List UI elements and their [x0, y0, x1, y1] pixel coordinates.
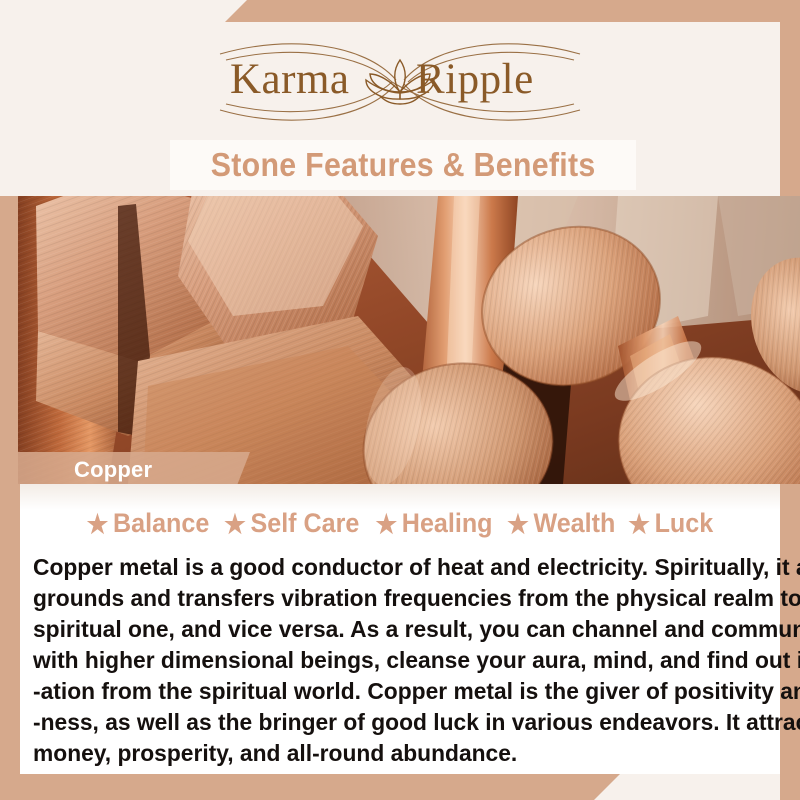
hero-caption: Copper: [18, 452, 250, 488]
frame-band-left: [0, 196, 20, 778]
benefit-item-wealth: ★ Wealth: [505, 508, 619, 539]
content-panel: ★ Balance ★ Self Care ★ Healing ★ Wealth…: [20, 484, 780, 774]
brand-logo: Karma Ripple: [0, 28, 800, 136]
description-line: Copper metal is a good conductor of heat…: [33, 552, 751, 583]
description-line: -ation from the spiritual world. Copper …: [33, 676, 751, 707]
benefit-item-balance: ★ Balance: [84, 508, 212, 539]
logo-word-karma: Karma: [230, 58, 350, 101]
benefit-label: Balance: [113, 508, 209, 539]
hero-image: [18, 196, 800, 484]
benefit-item-self-care: ★ Self Care: [223, 508, 364, 539]
hero-caption-label: Copper: [74, 457, 152, 483]
frame-band-bottom: [0, 774, 620, 800]
benefit-item-luck: ★ Luck: [626, 508, 717, 539]
logo-word-ripple: Ripple: [416, 58, 534, 101]
benefit-label: Self Care: [251, 508, 360, 539]
star-icon: ★: [225, 511, 247, 537]
star-icon: ★: [86, 511, 108, 537]
frame-band-top: [225, 0, 800, 22]
page-title: Stone Features & Benefits: [211, 146, 596, 184]
description-line: with higher dimensional beings, cleanse …: [33, 645, 751, 676]
benefit-label: Luck: [655, 508, 714, 539]
section-title-panel: Stone Features & Benefits: [170, 140, 636, 190]
content-top-fade: [20, 484, 780, 510]
description-text: Copper metal is a good conductor of heat…: [33, 552, 773, 769]
description-line: money, prosperity, and all-round abundan…: [33, 738, 751, 769]
star-icon: ★: [375, 511, 397, 537]
star-icon: ★: [507, 511, 529, 537]
star-icon: ★: [628, 511, 650, 537]
benefit-label: Healing: [402, 508, 493, 539]
benefit-item-healing: ★ Healing: [373, 508, 496, 539]
benefits-list: ★ Balance ★ Self Care ★ Healing ★ Wealth…: [20, 508, 780, 539]
description-line: spiritual one, and vice versa. As a resu…: [33, 614, 751, 645]
description-line: -ness, as well as the bringer of good lu…: [33, 707, 751, 738]
poster-root: Karma Ripple Stone Features & Benefits: [0, 0, 800, 800]
description-line: grounds and transfers vibration frequenc…: [33, 583, 751, 614]
benefit-label: Wealth: [533, 508, 615, 539]
copper-bars-illustration: [18, 196, 800, 484]
